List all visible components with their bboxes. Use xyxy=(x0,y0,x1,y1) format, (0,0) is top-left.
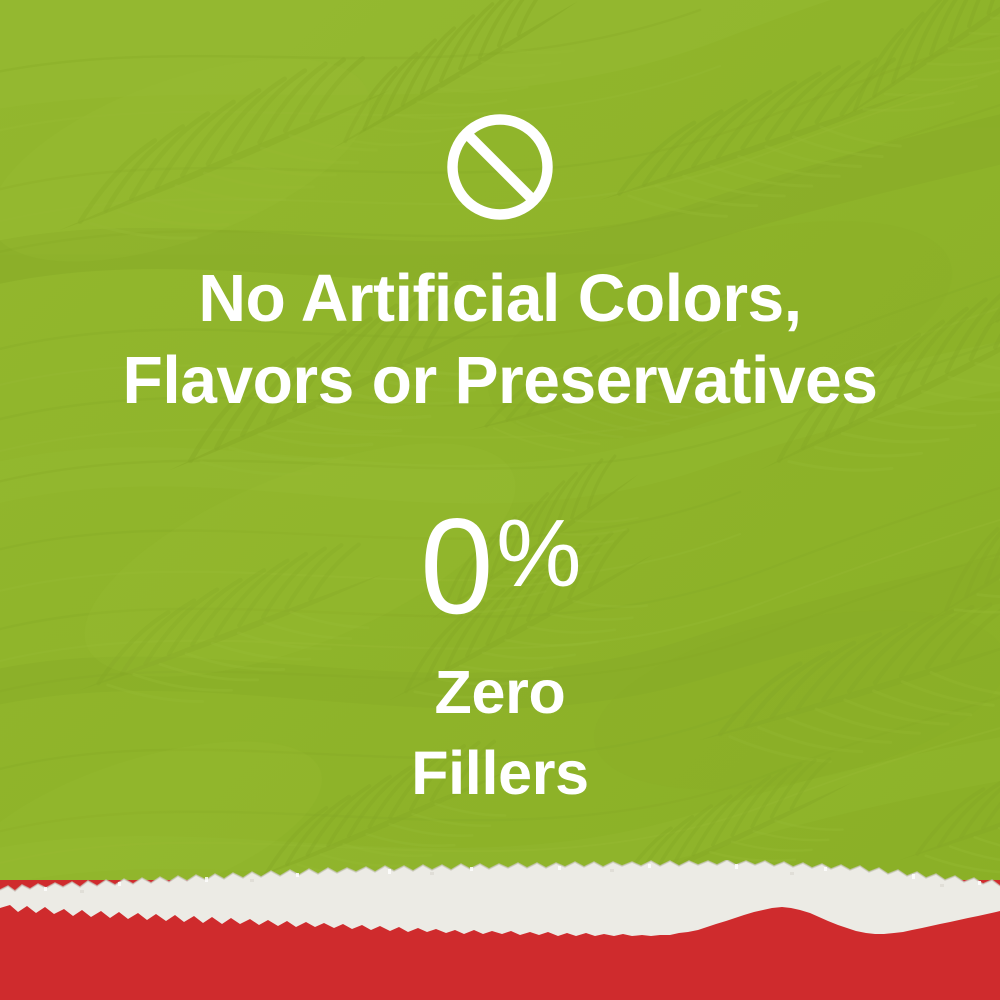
headline-line-1: No Artificial Colors, xyxy=(27,258,973,340)
claim-label-line-1: Zero xyxy=(0,652,1000,733)
product-claim-panel: No Artificial Colors, Flavors or Preserv… xyxy=(0,0,1000,1000)
percent-sign: % xyxy=(496,506,581,602)
no-symbol-icon xyxy=(443,110,557,224)
claim-label-line-2: Fillers xyxy=(0,733,1000,814)
headline-line-2: Flavors or Preservatives xyxy=(27,340,973,422)
percent-row: 0% xyxy=(0,492,1000,614)
no-symbol-icon-container xyxy=(0,110,1000,224)
zero-filler-claim: 0% Zero Fillers xyxy=(0,492,1000,814)
claim-number: 0 xyxy=(420,498,493,634)
headline: No Artificial Colors, Flavors or Preserv… xyxy=(0,258,1000,421)
claim-label: Zero Fillers xyxy=(0,652,1000,814)
red-bottom-band xyxy=(0,880,1000,1000)
